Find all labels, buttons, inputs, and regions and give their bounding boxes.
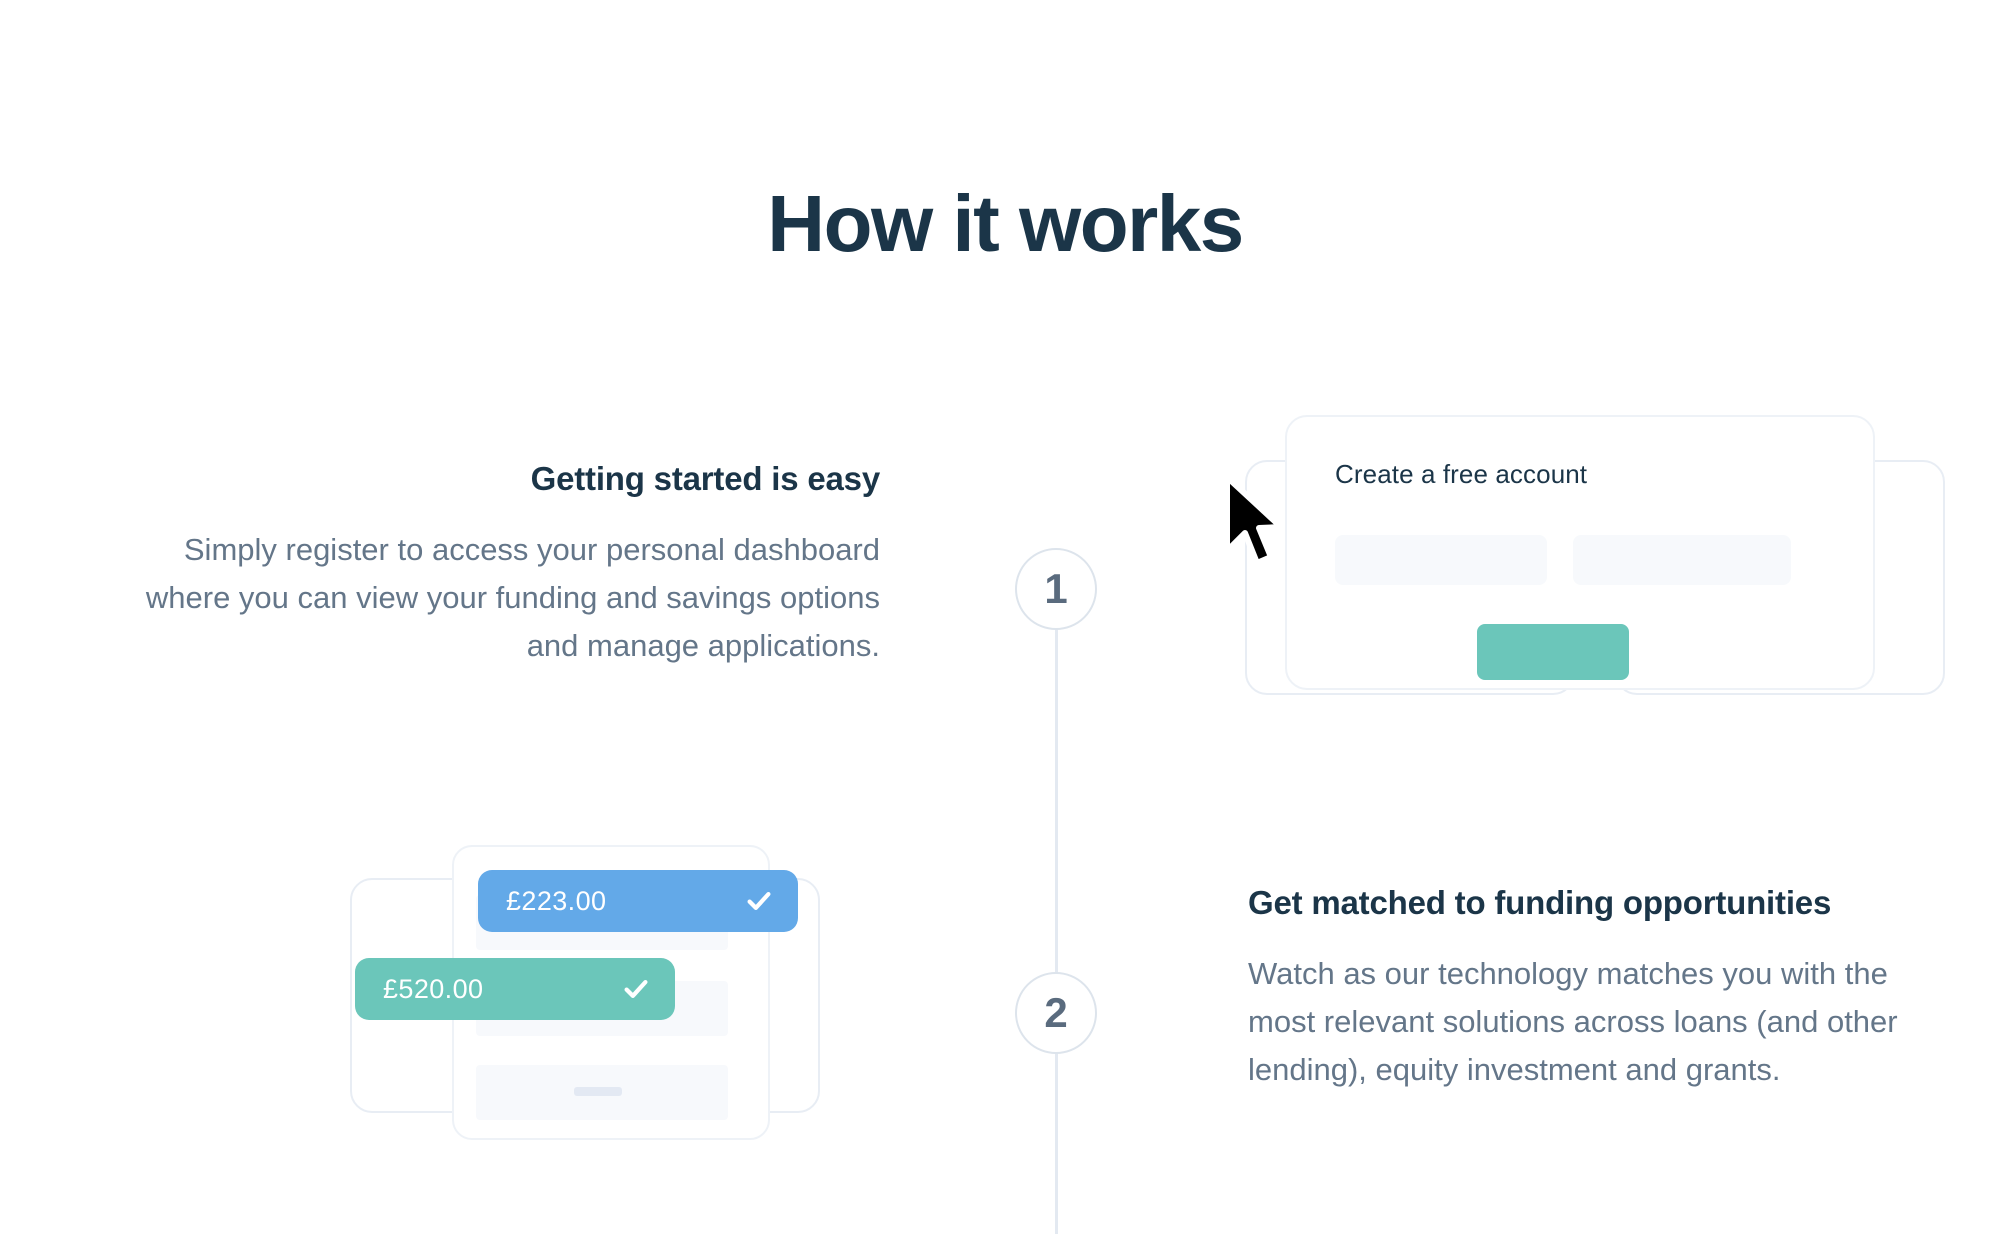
signup-field-placeholder-2[interactable] bbox=[1573, 535, 1791, 585]
step-number-1: 1 bbox=[1044, 565, 1067, 613]
timeline-connector-line bbox=[1055, 560, 1058, 1234]
step-1-body: Simply register to access your personal … bbox=[140, 526, 880, 670]
funding-match-pill-2: £520.00 bbox=[355, 958, 675, 1020]
step-2-body: Watch as our technology matches you with… bbox=[1248, 950, 1948, 1094]
match-row-accent-bar bbox=[574, 1087, 622, 1096]
signup-card: Create a free account bbox=[1285, 415, 1875, 690]
check-icon bbox=[621, 974, 651, 1004]
step-marker-2: 2 bbox=[1015, 972, 1097, 1054]
funding-amount-2: £520.00 bbox=[383, 974, 483, 1005]
step-1-heading: Getting started is easy bbox=[140, 458, 880, 500]
step-marker-1: 1 bbox=[1015, 548, 1097, 630]
step-2-text-block: Get matched to funding opportunities Wat… bbox=[1248, 882, 1948, 1094]
funding-match-pill-1: £223.00 bbox=[478, 870, 798, 932]
step-1-text-block: Getting started is easy Simply register … bbox=[140, 458, 880, 670]
page-title: How it works bbox=[0, 178, 2010, 270]
step-2-illustration: £223.00 £520.00 bbox=[350, 840, 880, 1140]
signup-card-title: Create a free account bbox=[1335, 459, 1587, 490]
check-icon bbox=[744, 886, 774, 916]
step-1-illustration: Create a free account bbox=[1245, 405, 1965, 725]
step-number-2: 2 bbox=[1044, 989, 1067, 1037]
funding-amount-1: £223.00 bbox=[506, 886, 606, 917]
match-row-placeholder-3 bbox=[476, 1065, 728, 1120]
signup-submit-button[interactable] bbox=[1477, 624, 1629, 680]
signup-field-placeholder-1[interactable] bbox=[1335, 535, 1547, 585]
how-it-works-section: How it works 1 2 Getting started is easy… bbox=[0, 0, 2010, 1234]
step-2-heading: Get matched to funding opportunities bbox=[1248, 882, 1948, 924]
